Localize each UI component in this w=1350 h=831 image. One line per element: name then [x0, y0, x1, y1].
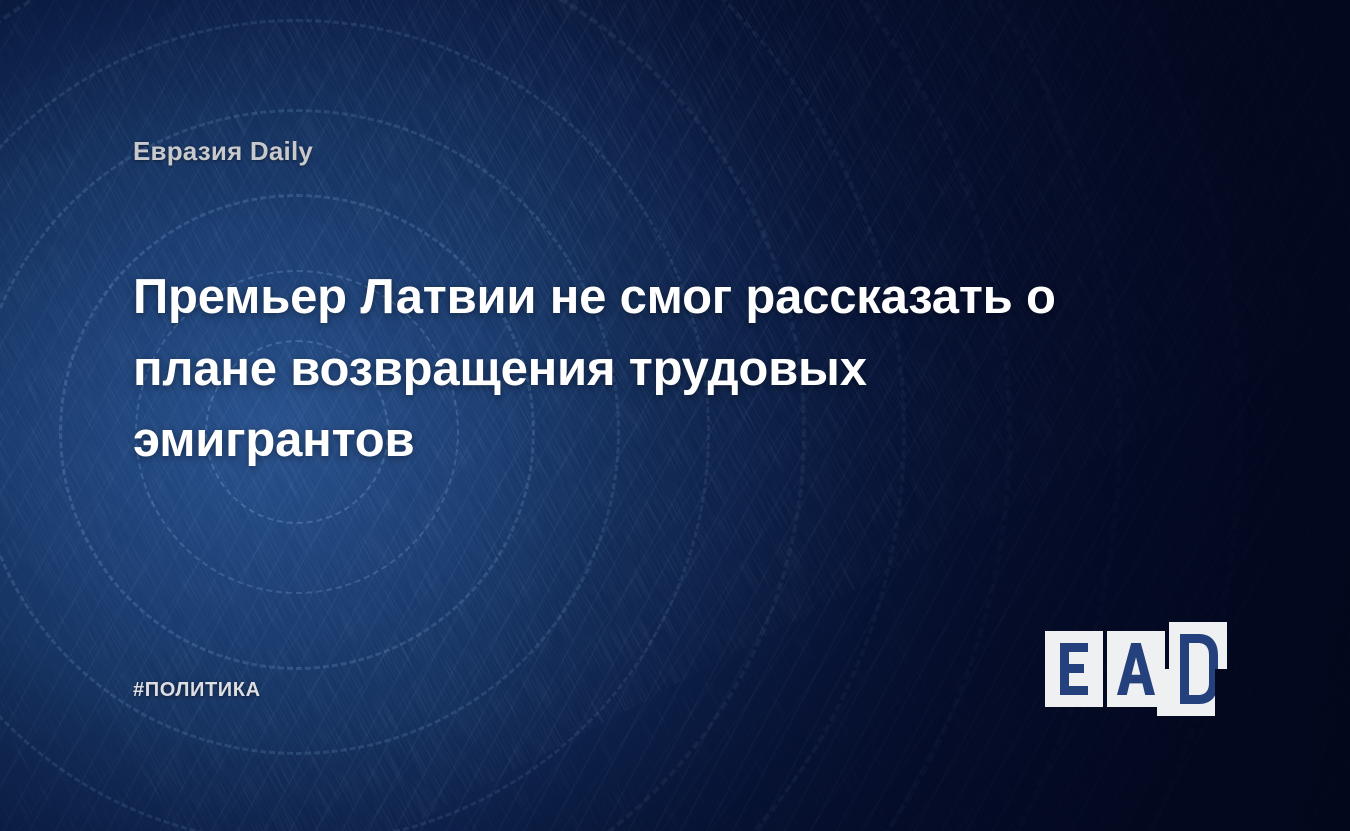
logo-tile-d-top [1169, 622, 1227, 669]
headline-title: Премьер Латвии не смог рассказать о план… [133, 262, 1133, 477]
logo-tile-d-bottom [1157, 669, 1215, 716]
brand-wordmark: Евразия Daily [133, 136, 313, 167]
category-tag: #ПОЛИТИКА [133, 679, 261, 702]
news-card: Евразия Daily Премьер Латвии не смог рас… [0, 0, 1350, 831]
eadaily-logo [1045, 622, 1227, 716]
logo-tile-e [1045, 631, 1103, 707]
